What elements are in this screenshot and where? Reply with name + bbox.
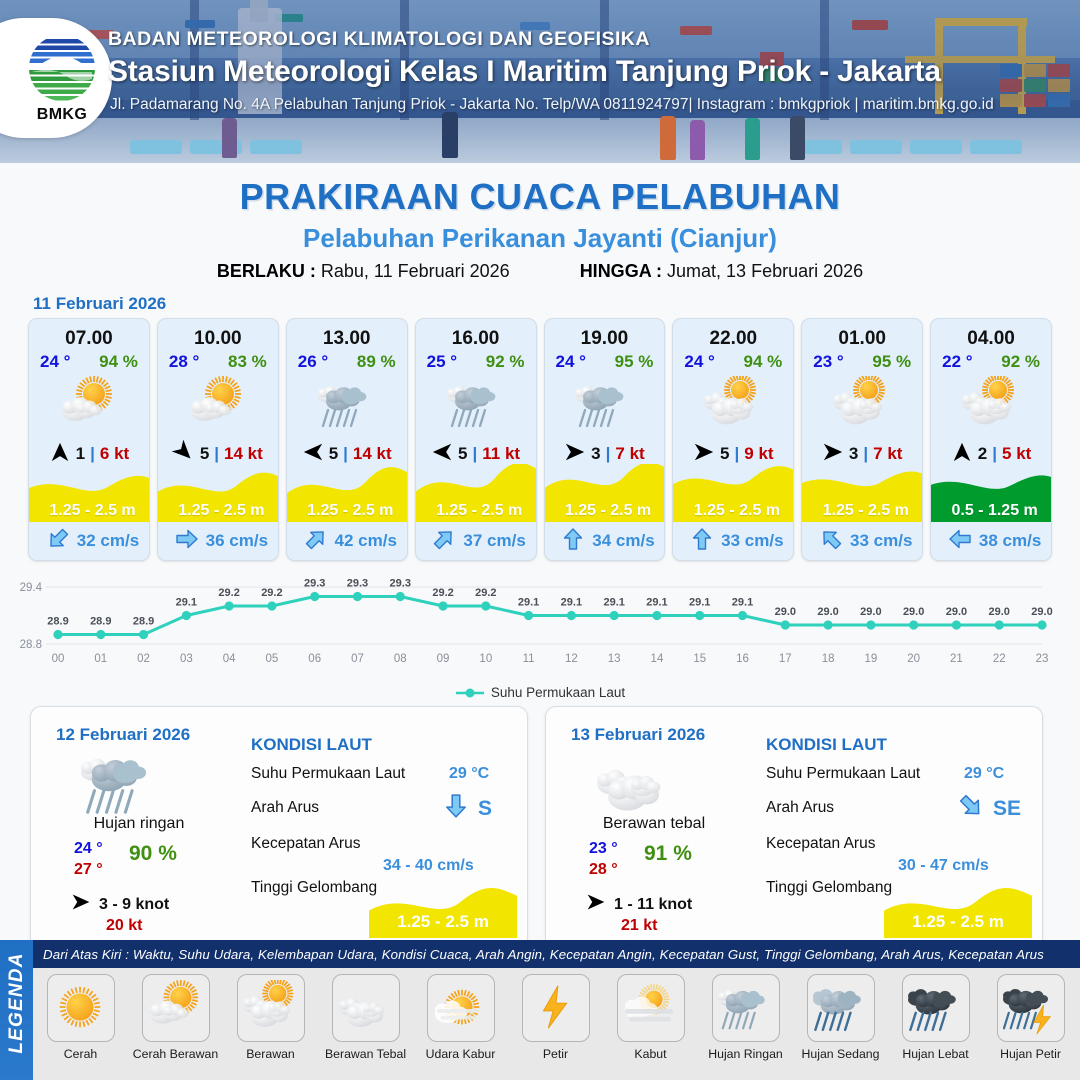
card-temperature: 24 °	[40, 352, 70, 372]
day-wind-range: 1 - 11 knot	[614, 896, 692, 914]
legend-icon-box	[902, 974, 970, 1042]
card-humidity: 94 %	[744, 352, 783, 372]
card-time: 10.00	[158, 328, 278, 350]
card-wave-height: 0.5 - 1.25 m	[931, 502, 1052, 520]
svg-text:17: 17	[779, 653, 792, 665]
day-temp-max: 27 °	[74, 861, 103, 879]
svg-text:29.1: 29.1	[689, 597, 710, 609]
current-direction-arrow-icon	[819, 527, 843, 556]
svg-text:29.0: 29.0	[989, 606, 1010, 618]
card-gust: 6 kt	[100, 444, 129, 464]
svg-text:13: 13	[608, 653, 621, 665]
current-direction-value: S	[478, 797, 492, 821]
legend-item-list: Cerah Cerah Berawan	[33, 968, 1080, 1080]
svg-text:20: 20	[907, 653, 920, 665]
legend-icon-box	[712, 974, 780, 1042]
wind-separator: |	[992, 444, 997, 464]
svg-text:29.1: 29.1	[732, 597, 753, 609]
card-wave-height: 1.25 - 2.5 m	[29, 502, 150, 520]
card-temperature: 24 °	[556, 352, 586, 372]
card-current-row: 33 cm/s	[802, 522, 923, 560]
card-wave-graphic: 1.25 - 2.5 m	[158, 464, 279, 522]
card-humidity: 95 %	[615, 352, 654, 372]
svg-text:23: 23	[1036, 653, 1049, 665]
current-direction-arrow-icon	[561, 527, 585, 556]
svg-text:28.9: 28.9	[133, 616, 154, 628]
svg-text:29.2: 29.2	[475, 587, 496, 599]
card-current-speed: 32 cm/s	[77, 531, 139, 551]
current-direction-arrow-icon	[690, 527, 714, 556]
seat	[850, 140, 902, 154]
card-weather-icon	[158, 374, 278, 436]
card-wave-graphic: 0.5 - 1.25 m	[931, 464, 1052, 522]
svg-text:29.3: 29.3	[347, 578, 368, 590]
card-wave-height: 1.25 - 2.5 m	[158, 502, 279, 520]
card-weather-icon	[287, 374, 407, 436]
forecast-card: 13.00 26 ° 89 % 5 | 14 kt	[286, 318, 408, 561]
person	[745, 118, 760, 160]
sst-chart: 29.428.828.90028.90128.90229.10329.20429…	[0, 569, 1080, 689]
card-wind-level: 1	[76, 444, 85, 464]
svg-text:03: 03	[180, 653, 193, 665]
card-current-speed: 37 cm/s	[463, 531, 525, 551]
card-current-speed: 38 cm/s	[979, 531, 1041, 551]
page-subtitle: Pelabuhan Perikanan Jayanti (Cianjur)	[0, 223, 1080, 254]
legend-item-label: Berawan	[223, 1047, 318, 1061]
svg-text:29.0: 29.0	[903, 606, 924, 618]
day-wind-direction-arrow-icon	[71, 892, 91, 917]
day-temp-min: 23 °	[589, 840, 618, 858]
current-direction-value: SE	[993, 797, 1021, 821]
day-wind-row: 1 - 11 knot	[586, 892, 692, 917]
svg-text:28.9: 28.9	[90, 616, 111, 628]
card-humidity: 89 %	[357, 352, 396, 372]
card-wind-level: 5	[200, 444, 209, 464]
card-time: 01.00	[802, 328, 922, 350]
card-current-speed: 34 cm/s	[592, 531, 654, 551]
svg-text:28.9: 28.9	[47, 616, 68, 628]
card-wave-height: 1.25 - 2.5 m	[416, 502, 537, 520]
card-gust: 11 kt	[482, 444, 520, 464]
card-wave-height: 1.25 - 2.5 m	[545, 502, 666, 520]
card-current-speed: 33 cm/s	[721, 531, 783, 551]
card-gust: 7 kt	[615, 444, 644, 464]
day-condition: Berawan tebal	[564, 815, 744, 833]
day-wave-value: 1.25 - 2.5 m	[884, 912, 1032, 932]
hingga-value: Jumat, 13 Februari 2026	[667, 261, 863, 281]
day-current-direction-arrow-icon	[443, 793, 469, 824]
forecast-card: 04.00 22 ° 92 % 2 | 5 kt	[930, 318, 1052, 561]
card-temperature: 22 °	[942, 352, 972, 372]
forecast-card: 07.00 24 ° 94 % 1 | 6 kt 1.	[28, 318, 150, 561]
legend-item: Cerah	[33, 974, 128, 1061]
legend-item-label: Kabut	[603, 1047, 698, 1061]
current-speed-label: Kecepatan Arus	[766, 835, 875, 853]
current-direction-row: S	[443, 793, 492, 824]
day-current-direction-arrow-icon	[958, 793, 984, 824]
sst-label: Suhu Permukaan Laut	[766, 765, 920, 783]
card-weather-icon	[931, 374, 1051, 436]
svg-text:18: 18	[822, 653, 835, 665]
legend-icon-box	[807, 974, 875, 1042]
svg-text:11: 11	[523, 653, 535, 665]
wind-separator: |	[735, 444, 740, 464]
day-gust: 20 kt	[106, 917, 142, 935]
card-wave-graphic: 1.25 - 2.5 m	[673, 464, 794, 522]
card-wave-height: 1.25 - 2.5 m	[287, 502, 408, 520]
bmkg-logo-text: BMKG	[26, 106, 98, 124]
card-wave-graphic: 1.25 - 2.5 m	[545, 464, 666, 522]
day-wave-graphic: 1.25 - 2.5 m	[369, 882, 517, 938]
forecast-card: 01.00 23 ° 95 % 3 | 7 kt	[801, 318, 923, 561]
card-current-speed: 36 cm/s	[206, 531, 268, 551]
legend-icon-box	[522, 974, 590, 1042]
current-direction-arrow-icon	[432, 527, 456, 556]
card-wind-level: 2	[978, 444, 987, 464]
legend-item-label: Berawan Tebal	[318, 1047, 413, 1061]
hingga-label: HINGGA :	[580, 261, 662, 281]
header-banner: BMKG BADAN METEOROLOGI KLIMATOLOGI DAN G…	[0, 0, 1080, 163]
legend-item-label: Hujan Lebat	[888, 1047, 983, 1061]
svg-text:29.0: 29.0	[860, 606, 881, 618]
day-gust: 21 kt	[621, 917, 657, 935]
card-time: 16.00	[416, 328, 536, 350]
forecast-card: 10.00 28 ° 83 % 5 | 14 kt 1	[157, 318, 279, 561]
card-temperature: 28 °	[169, 352, 199, 372]
current-speed-label: Kecepatan Arus	[251, 835, 360, 853]
legend-icon-box	[47, 974, 115, 1042]
svg-text:15: 15	[693, 653, 706, 665]
svg-text:29.4: 29.4	[20, 582, 43, 594]
legend-icon-box	[237, 974, 305, 1042]
bmkg-emblem-icon	[26, 32, 98, 104]
svg-text:29.2: 29.2	[261, 587, 282, 599]
card-current-row: 42 cm/s	[287, 522, 408, 560]
legend-item: Berawan Tebal	[318, 974, 413, 1061]
legend-note: Dari Atas Kiri : Waktu, Suhu Udara, Kele…	[33, 940, 1080, 968]
day-condition: Hujan ringan	[49, 815, 229, 833]
card-current-row: 33 cm/s	[673, 522, 794, 560]
legend-item-label: Hujan Sedang	[793, 1047, 888, 1061]
person	[790, 116, 805, 160]
person	[222, 118, 237, 158]
berlaku-value: Rabu, 11 Februari 2026	[321, 261, 510, 281]
wind-separator: |	[473, 444, 478, 464]
svg-text:16: 16	[736, 653, 749, 665]
card-humidity: 83 %	[228, 352, 267, 372]
current-speed-value: 34 - 40 cm/s	[383, 857, 474, 875]
wind-separator: |	[606, 444, 611, 464]
card-time: 22.00	[673, 328, 793, 350]
day-humidity: 91 %	[644, 842, 692, 866]
berlaku-label: BERLAKU :	[217, 261, 316, 281]
card-wind-level: 3	[591, 444, 600, 464]
card-current-speed: 33 cm/s	[850, 531, 912, 551]
card-wind-level: 3	[849, 444, 858, 464]
legend-sidebar-label: LEGENDA	[6, 950, 28, 1056]
card-humidity: 92 %	[486, 352, 525, 372]
card-weather-icon	[802, 374, 922, 436]
forecast-date-label: 11 Februari 2026	[33, 294, 1080, 314]
card-humidity: 92 %	[1001, 352, 1040, 372]
page-title: PRAKIRAAN CUACA PELABUHAN	[0, 176, 1080, 218]
day-wind-range: 3 - 9 knot	[99, 896, 169, 914]
card-current-row: 32 cm/s	[29, 522, 150, 560]
wind-separator: |	[90, 444, 95, 464]
card-current-row: 37 cm/s	[416, 522, 537, 560]
current-direction-arrow-icon	[304, 527, 328, 556]
sst-label: Suhu Permukaan Laut	[251, 765, 405, 783]
seat	[250, 140, 302, 154]
sea-conditions-title: KONDISI LAUT	[766, 735, 887, 755]
wave-height-label: Tinggi Gelombang	[251, 879, 377, 897]
day-wave-value: 1.25 - 2.5 m	[369, 912, 517, 932]
wind-separator: |	[343, 444, 348, 464]
legend-item: Hujan Sedang	[793, 974, 888, 1061]
svg-text:21: 21	[950, 653, 963, 665]
legend-item-label: Udara Kabur	[413, 1047, 508, 1061]
card-current-row: 34 cm/s	[545, 522, 666, 560]
card-temperature: 25 °	[427, 352, 457, 372]
day-temp-min: 24 °	[74, 840, 103, 858]
card-weather-icon	[29, 374, 149, 436]
forecast-card-list: 07.00 24 ° 94 % 1 | 6 kt 1.	[0, 318, 1080, 561]
svg-text:29.1: 29.1	[561, 597, 582, 609]
card-gust: 9 kt	[744, 444, 773, 464]
card-humidity: 95 %	[872, 352, 911, 372]
card-time: 13.00	[287, 328, 407, 350]
forecast-card: 22.00 24 ° 94 % 5 | 9 kt	[672, 318, 794, 561]
sst-value: 29 °C	[449, 765, 489, 783]
card-wave-graphic: 1.25 - 2.5 m	[802, 464, 923, 522]
card-time: 19.00	[545, 328, 665, 350]
wind-separator: |	[214, 444, 219, 464]
legend-item: Udara Kabur	[413, 974, 508, 1061]
current-direction-label: Arah Arus	[251, 799, 319, 817]
bmkg-logo-mark	[26, 32, 98, 104]
seat	[910, 140, 962, 154]
card-wave-height: 1.25 - 2.5 m	[802, 502, 923, 520]
svg-text:29.3: 29.3	[304, 578, 325, 590]
day-temp-max: 28 °	[589, 861, 618, 879]
current-direction-arrow-icon	[46, 527, 70, 556]
svg-text:29.1: 29.1	[176, 597, 197, 609]
card-temperature: 24 °	[684, 352, 714, 372]
card-temperature: 26 °	[298, 352, 328, 372]
svg-text:06: 06	[308, 653, 321, 665]
svg-text:28.8: 28.8	[20, 639, 42, 651]
svg-text:09: 09	[437, 653, 450, 665]
sst-chart-svg: 29.428.828.90028.90128.90229.10329.20429…	[0, 569, 1080, 689]
sea-conditions-title: KONDISI LAUT	[251, 735, 372, 755]
validity-range: BERLAKU : Rabu, 11 Februari 2026 HINGGA …	[0, 261, 1080, 282]
svg-text:12: 12	[565, 653, 578, 665]
card-wave-graphic: 1.25 - 2.5 m	[29, 464, 150, 522]
legend-item-label: Cerah Berawan	[128, 1047, 223, 1061]
svg-text:05: 05	[266, 653, 279, 665]
card-wave-graphic: 1.25 - 2.5 m	[287, 464, 408, 522]
svg-text:08: 08	[394, 653, 407, 665]
day-date: 12 Februari 2026	[56, 725, 190, 745]
legend-item: Kabut	[603, 974, 698, 1061]
seat	[970, 140, 1022, 154]
card-wave-graphic: 1.25 - 2.5 m	[416, 464, 537, 522]
person	[442, 112, 458, 158]
legend-item: Hujan Petir	[983, 974, 1078, 1061]
wind-separator: |	[863, 444, 868, 464]
legend-strip: LEGENDA Dari Atas Kiri : Waktu, Suhu Uda…	[0, 940, 1080, 1080]
card-temperature: 23 °	[813, 352, 843, 372]
day-wind-row: 3 - 9 knot	[71, 892, 169, 917]
svg-text:29.1: 29.1	[646, 597, 667, 609]
card-gust: 5 kt	[1002, 444, 1031, 464]
legend-icon-box	[142, 974, 210, 1042]
svg-text:29.3: 29.3	[390, 578, 411, 590]
day-date: 13 Februari 2026	[571, 725, 705, 745]
card-weather-icon	[673, 374, 793, 436]
current-speed-value: 30 - 47 cm/s	[898, 857, 989, 875]
card-gust: 14 kt	[353, 444, 392, 464]
legend-icon-box	[427, 974, 495, 1042]
current-direction-arrow-icon	[175, 527, 199, 556]
card-current-speed: 42 cm/s	[335, 531, 397, 551]
legend-item-label: Hujan Petir	[983, 1047, 1078, 1061]
agency-name: BADAN METEOROLOGI KLIMATOLOGI DAN GEOFIS…	[108, 28, 1068, 51]
day-forecast-panel: 12 Februari 2026 Hujan ringan 24 ° 27 ° …	[30, 706, 528, 949]
legend-item-label: Cerah	[33, 1047, 128, 1061]
legend-item-label: Petir	[508, 1047, 603, 1061]
day-wave-graphic: 1.25 - 2.5 m	[884, 882, 1032, 938]
bmkg-logo: BMKG	[0, 18, 112, 138]
sst-value: 29 °C	[964, 765, 1004, 783]
legend-sidebar: LEGENDA	[0, 940, 33, 1080]
svg-text:29.2: 29.2	[218, 587, 239, 599]
legend-item: Petir	[508, 974, 603, 1061]
card-time: 07.00	[29, 328, 149, 350]
legend-icon-box	[997, 974, 1065, 1042]
card-gust: 14 kt	[224, 444, 263, 464]
day-panel-list: 12 Februari 2026 Hujan ringan 24 ° 27 ° …	[0, 700, 1080, 949]
svg-text:14: 14	[651, 653, 664, 665]
day-wind-direction-arrow-icon	[586, 892, 606, 917]
svg-text:19: 19	[864, 653, 877, 665]
svg-text:07: 07	[351, 653, 364, 665]
card-wind-level: 5	[329, 444, 338, 464]
current-direction-label: Arah Arus	[766, 799, 834, 817]
svg-text:29.1: 29.1	[518, 597, 539, 609]
svg-text:29.0: 29.0	[817, 606, 838, 618]
card-weather-icon	[545, 374, 665, 436]
svg-text:00: 00	[52, 653, 65, 665]
card-time: 04.00	[931, 328, 1051, 350]
card-wind-level: 5	[720, 444, 729, 464]
svg-text:02: 02	[137, 653, 150, 665]
svg-text:29.0: 29.0	[775, 606, 796, 618]
current-direction-arrow-icon	[948, 527, 972, 556]
card-wind-level: 5	[458, 444, 467, 464]
svg-text:29.2: 29.2	[432, 587, 453, 599]
svg-text:29.0: 29.0	[1031, 606, 1052, 618]
svg-text:29.0: 29.0	[946, 606, 967, 618]
person	[690, 120, 705, 160]
seat	[130, 140, 182, 154]
svg-text:29.1: 29.1	[603, 597, 624, 609]
legend-item: Hujan Ringan	[698, 974, 793, 1061]
card-wave-height: 1.25 - 2.5 m	[673, 502, 794, 520]
legend-icon-box	[332, 974, 400, 1042]
card-humidity: 94 %	[99, 352, 138, 372]
svg-text:01: 01	[94, 653, 107, 665]
card-current-row: 36 cm/s	[158, 522, 279, 560]
station-address: Jl. Padamarang No. 4A Pelabuhan Tanjung …	[110, 96, 1068, 114]
day-humidity: 90 %	[129, 842, 177, 866]
forecast-card: 16.00 25 ° 92 % 5 | 11 kt	[415, 318, 537, 561]
legend-item: Cerah Berawan	[128, 974, 223, 1061]
legend-item-label: Hujan Ringan	[698, 1047, 793, 1061]
person	[660, 116, 676, 160]
forecast-card: 19.00 24 ° 95 % 3 | 7 kt	[544, 318, 666, 561]
current-direction-row: SE	[958, 793, 1021, 824]
day-forecast-panel: 13 Februari 2026 Berawan tebal 23 ° 28 °…	[545, 706, 1043, 949]
wave-height-label: Tinggi Gelombang	[766, 879, 892, 897]
card-gust: 7 kt	[873, 444, 902, 464]
svg-text:04: 04	[223, 653, 236, 665]
legend-icon-box	[617, 974, 685, 1042]
card-current-row: 38 cm/s	[931, 522, 1052, 560]
svg-text:10: 10	[479, 653, 492, 665]
station-name: Stasiun Meteorologi Kelas I Maritim Tanj…	[108, 55, 1068, 89]
card-weather-icon	[416, 374, 536, 436]
legend-item: Hujan Lebat	[888, 974, 983, 1061]
svg-text:22: 22	[993, 653, 1006, 665]
legend-item: Berawan	[223, 974, 318, 1061]
